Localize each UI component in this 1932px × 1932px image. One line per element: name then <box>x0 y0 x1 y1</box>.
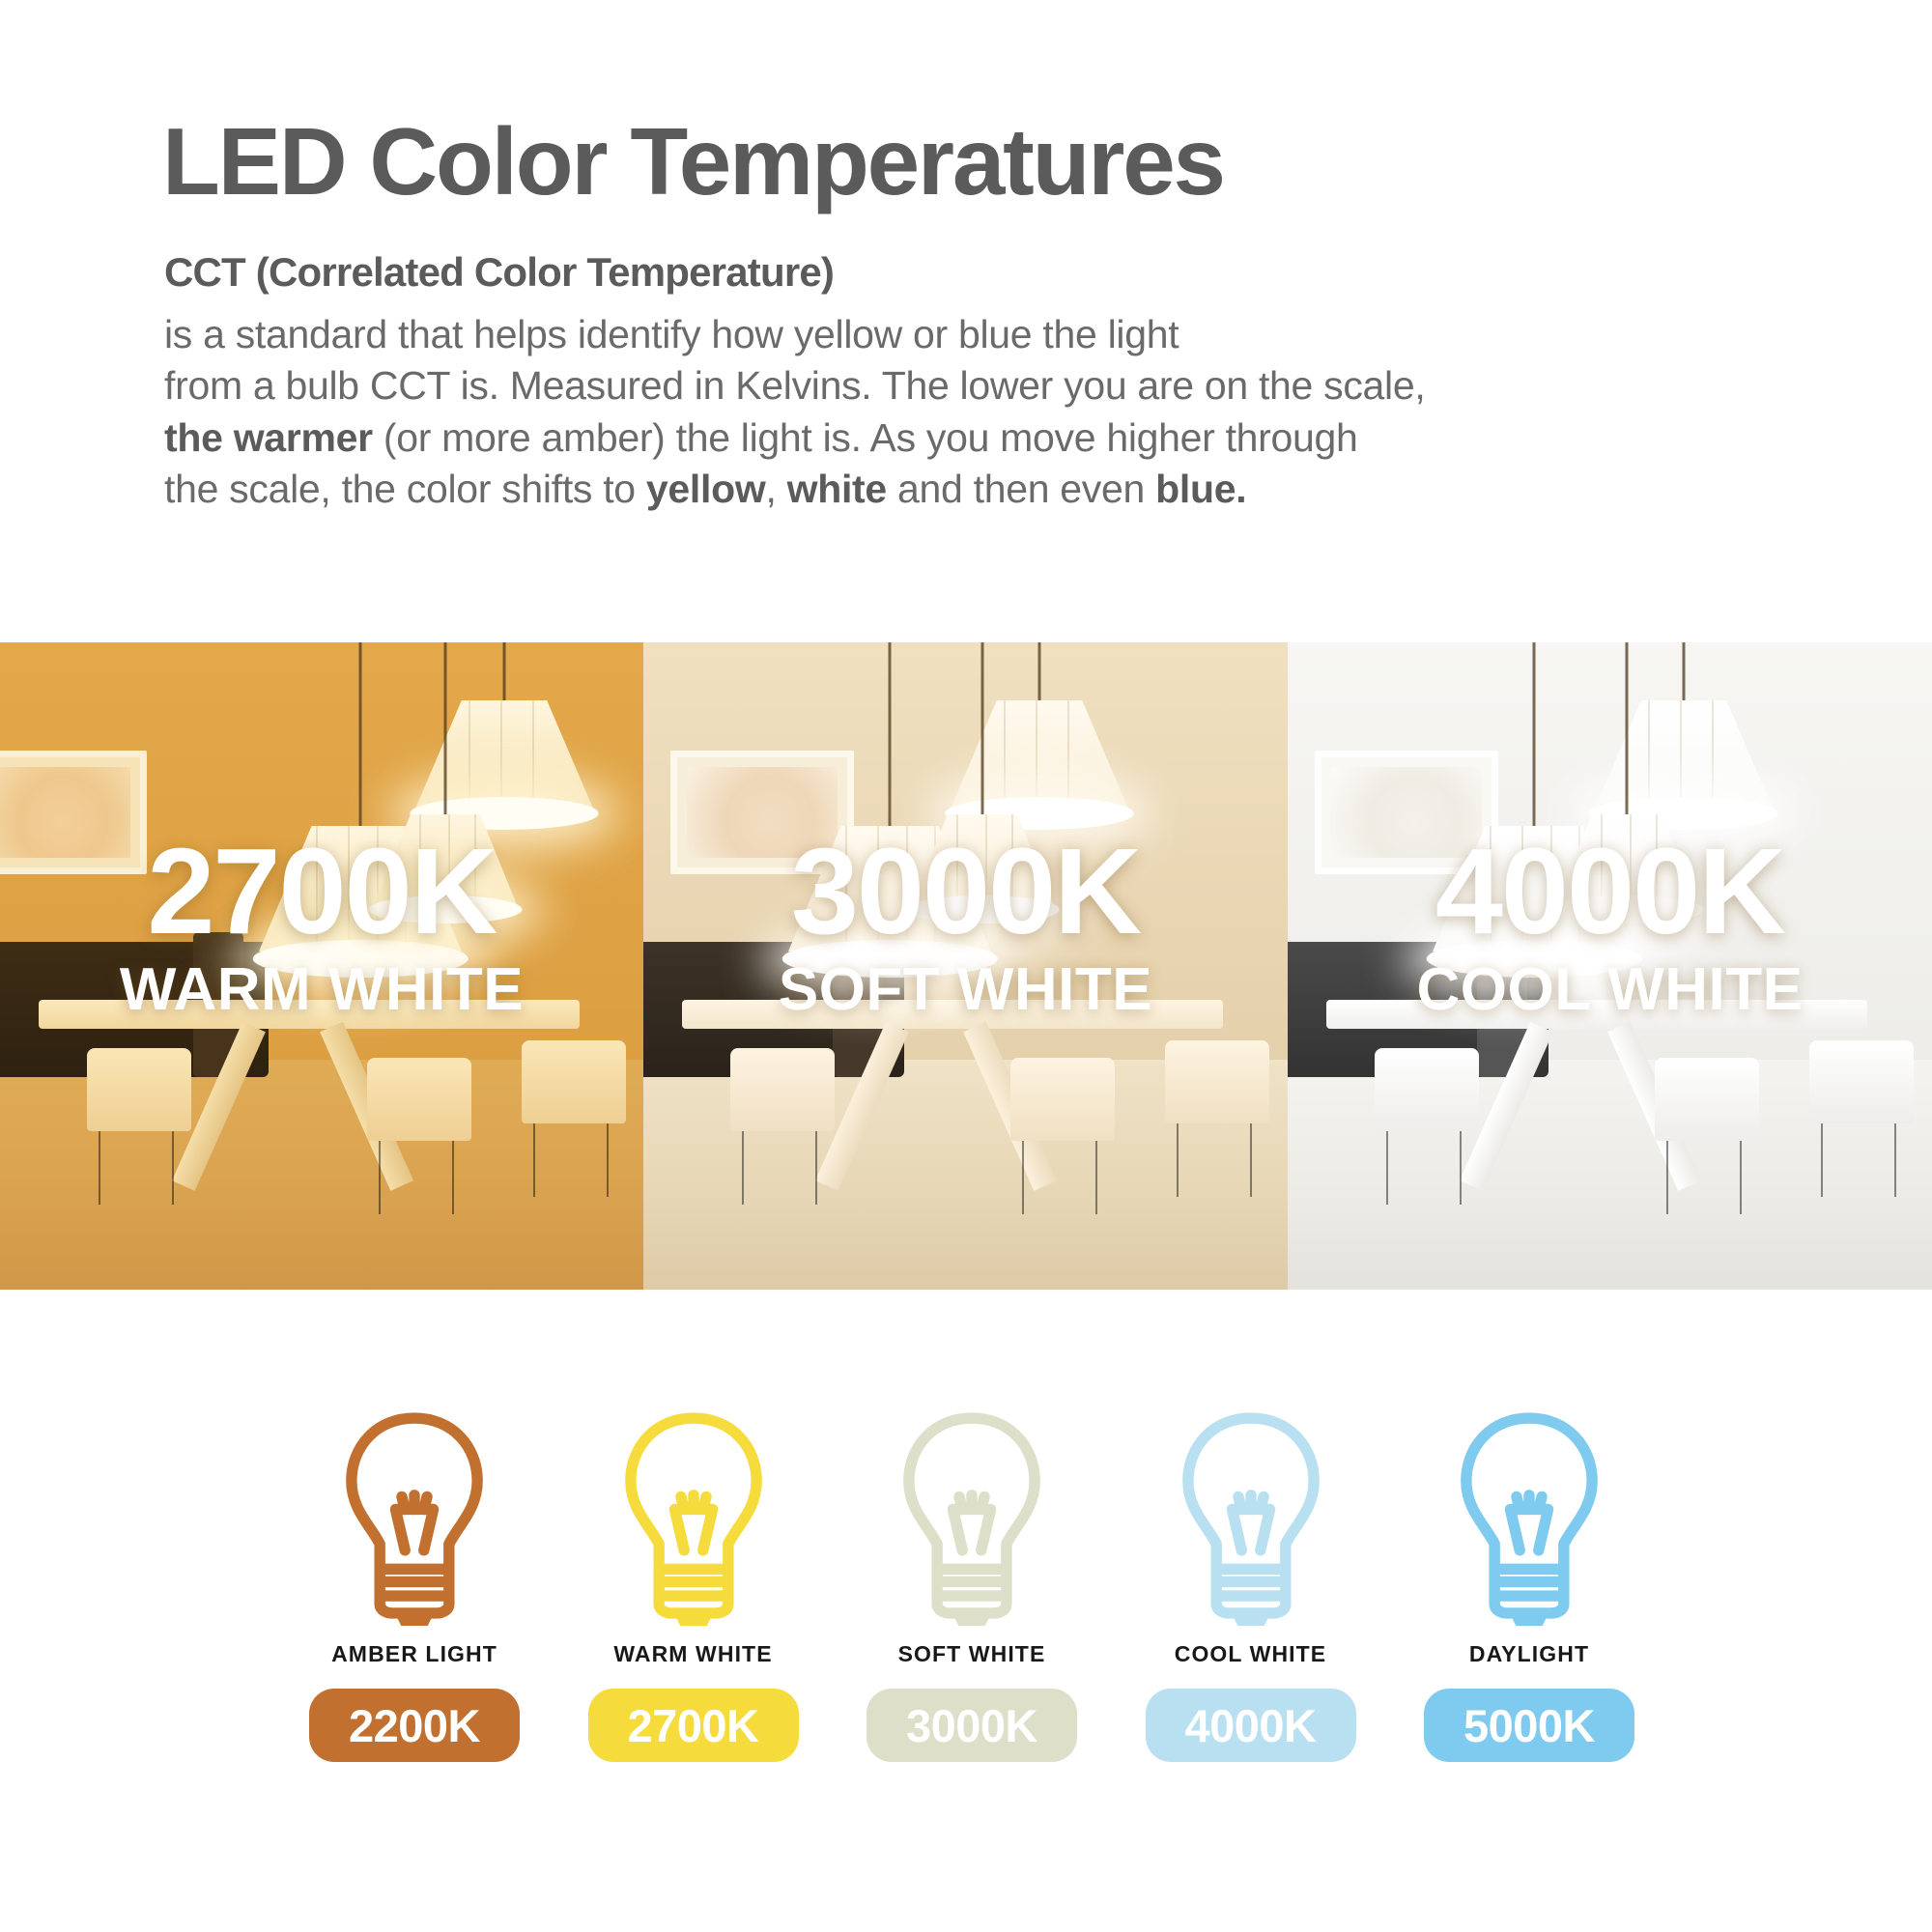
bulb-scale-section: AMBER LIGHT 2200K WARM WHITE 2700K <box>0 1290 1932 1932</box>
pendant-lamp <box>910 814 1055 907</box>
lamp-glow <box>253 940 469 978</box>
wall-picture-frame <box>0 751 147 874</box>
photo-panel-soft-white: 3000K SOFT WHITE <box>643 642 1288 1290</box>
pendant-lamp <box>951 700 1128 809</box>
bulb-label: DAYLIGHT <box>1469 1641 1589 1667</box>
lamp-shade <box>373 814 518 907</box>
photo-panel-cool-white: 4000K COOL WHITE <box>1288 642 1932 1290</box>
bulb-item-soft-white[interactable]: SOFT WHITE 3000K <box>843 1406 1100 1762</box>
light-bulb-icon <box>1449 1406 1609 1626</box>
baby-photo <box>0 767 130 858</box>
description-line-4: the scale, the color shifts to yellow, w… <box>164 464 1748 515</box>
lamp-glow <box>1550 895 1704 923</box>
bulb-kelvin-badge[interactable]: 2700K <box>588 1689 799 1762</box>
bulb-kelvin-badge[interactable]: 5000K <box>1424 1689 1634 1762</box>
chair <box>87 1048 191 1131</box>
bulb-label: SOFT WHITE <box>898 1641 1046 1667</box>
dining-table-top <box>1326 1000 1867 1029</box>
description-line-1: is a standard that helps identify how ye… <box>164 309 1748 360</box>
bulb-item-amber-light[interactable]: AMBER LIGHT 2200K <box>286 1406 543 1762</box>
pendant-lamp <box>415 700 593 809</box>
photo-panel-warm-white: 2700K WARM WHITE <box>0 642 643 1290</box>
pendant-lamp <box>1595 700 1773 809</box>
lamp-glow <box>369 895 523 923</box>
photo-strip: 2700K WARM WHITE <box>0 642 1932 1290</box>
dining-table-top <box>682 1000 1223 1029</box>
lamp-cord <box>1038 642 1041 700</box>
chair <box>1375 1048 1479 1131</box>
pendant-lamp <box>373 814 518 907</box>
description-line-2: from a bulb CCT is. Measured in Kelvins.… <box>164 360 1748 412</box>
light-bulb-icon <box>892 1406 1052 1626</box>
light-bulb-icon <box>613 1406 774 1626</box>
chair <box>1809 1040 1914 1123</box>
lamp-shade <box>1595 700 1773 809</box>
chair <box>1010 1058 1115 1141</box>
lamp-shade <box>1554 814 1699 907</box>
lamp-shade <box>415 700 593 809</box>
bulb-kelvin-badge[interactable]: 3000K <box>867 1689 1077 1762</box>
bulb-kelvin-badge[interactable]: 2200K <box>309 1689 520 1762</box>
bulb-kelvin-badge[interactable]: 4000K <box>1146 1689 1356 1762</box>
lamp-shade <box>910 814 1055 907</box>
bulb-label: AMBER LIGHT <box>331 1641 497 1667</box>
bulb-label: WARM WHITE <box>613 1641 772 1667</box>
bulb-item-warm-white[interactable]: WARM WHITE 2700K <box>565 1406 822 1762</box>
bulb-label: COOL WHITE <box>1175 1641 1327 1667</box>
bulb-item-cool-white[interactable]: COOL WHITE 4000K <box>1122 1406 1379 1762</box>
lamp-cord <box>444 642 447 814</box>
light-bulb-icon <box>334 1406 495 1626</box>
description-paragraph: is a standard that helps identify how ye… <box>164 309 1748 515</box>
lamp-cord <box>503 642 506 700</box>
lamp-cord <box>1626 642 1629 814</box>
header-section: LED Color Temperatures CCT (Correlated C… <box>0 0 1932 642</box>
lamp-cord <box>1683 642 1686 700</box>
bulb-row: AMBER LIGHT 2200K WARM WHITE 2700K <box>286 1406 1658 1762</box>
light-bulb-icon <box>1171 1406 1331 1626</box>
dining-table-top <box>39 1000 580 1029</box>
lamp-glow <box>1427 940 1642 978</box>
lamp-cord <box>359 642 362 826</box>
lamp-cord <box>1533 642 1536 826</box>
chair <box>730 1048 835 1131</box>
chair <box>1655 1058 1759 1141</box>
chair <box>367 1058 471 1141</box>
chair <box>522 1040 626 1123</box>
page-title: LED Color Temperatures <box>162 114 1224 209</box>
pendant-lamp <box>1554 814 1699 907</box>
lamp-shade <box>951 700 1128 809</box>
description-line-3: the warmer (or more amber) the light is.… <box>164 412 1748 464</box>
subtitle: CCT (Correlated Color Temperature) <box>164 249 834 296</box>
infographic-page: LED Color Temperatures CCT (Correlated C… <box>0 0 1932 1932</box>
lamp-cord <box>889 642 892 826</box>
bulb-item-daylight[interactable]: DAYLIGHT 5000K <box>1401 1406 1658 1762</box>
lamp-cord <box>981 642 984 814</box>
lamp-glow <box>782 940 998 978</box>
chair <box>1165 1040 1269 1123</box>
lamp-glow <box>906 895 1060 923</box>
